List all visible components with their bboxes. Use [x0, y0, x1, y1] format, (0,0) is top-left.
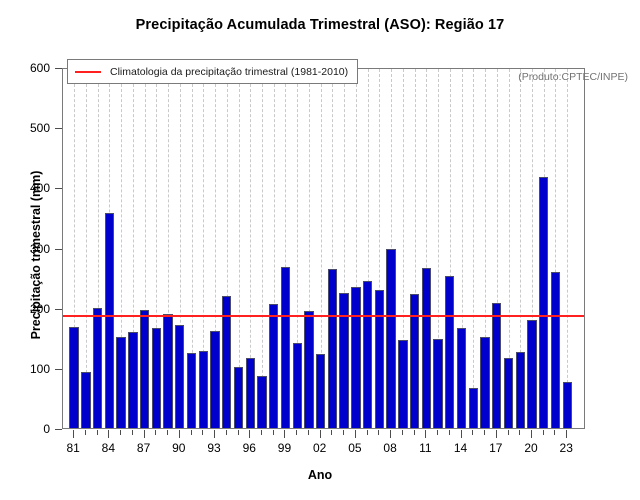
- bar: [152, 328, 161, 428]
- x-tick-mark-major: [390, 430, 391, 438]
- y-tick-mark: [55, 309, 62, 310]
- x-tick-label: 20: [511, 441, 551, 455]
- bar: [105, 213, 114, 428]
- chart-title: Precipitação Acumulada Trimestral (ASO):…: [0, 17, 640, 33]
- x-tick-mark-major: [531, 430, 532, 438]
- bar: [480, 337, 489, 428]
- bar: [386, 249, 395, 428]
- bar: [175, 325, 184, 428]
- bar: [269, 304, 278, 428]
- x-tick-mark-minor: [273, 430, 274, 435]
- bar: [363, 281, 372, 428]
- x-tick-label: 05: [335, 441, 375, 455]
- x-tick-mark-minor: [367, 430, 368, 435]
- x-tick-label: 17: [476, 441, 516, 455]
- x-tick-mark-minor: [120, 430, 121, 435]
- x-tick-mark-minor: [202, 430, 203, 435]
- legend: Climatologia da precipitação trimestral …: [67, 59, 358, 84]
- x-tick-mark-minor: [191, 430, 192, 435]
- bar: [293, 343, 302, 428]
- bar: [398, 340, 407, 428]
- bar: [433, 339, 442, 428]
- y-tick-label: 0: [0, 422, 50, 436]
- y-tick-mark: [55, 128, 62, 129]
- x-tick-mark-minor: [414, 430, 415, 435]
- y-tick-mark: [55, 369, 62, 370]
- bar: [128, 332, 137, 428]
- x-tick-mark-minor: [226, 430, 227, 435]
- x-tick-mark-minor: [85, 430, 86, 435]
- x-tick-label: 23: [546, 441, 586, 455]
- x-tick-mark-major: [461, 430, 462, 438]
- y-tick-mark: [55, 188, 62, 189]
- x-tick-mark-minor: [472, 430, 473, 435]
- y-axis-title: Precipitação trimestral (mm): [29, 130, 43, 380]
- x-tick-mark-major: [425, 430, 426, 438]
- x-tick-mark-minor: [554, 430, 555, 435]
- bar: [69, 327, 78, 428]
- bar: [210, 331, 219, 428]
- bar: [351, 287, 360, 428]
- bar: [375, 290, 384, 428]
- x-tick-mark-minor: [378, 430, 379, 435]
- x-tick-mark-minor: [261, 430, 262, 435]
- bar: [199, 351, 208, 428]
- x-tick-label: 87: [124, 441, 164, 455]
- x-tick-label: 90: [159, 441, 199, 455]
- y-tick-mark: [55, 68, 62, 69]
- x-tick-mark-minor: [331, 430, 332, 435]
- x-axis-title: Ano: [0, 468, 640, 482]
- x-tick-mark-major: [144, 430, 145, 438]
- x-tick-label: 84: [88, 441, 128, 455]
- bar: [234, 367, 243, 428]
- bar: [257, 376, 266, 428]
- x-tick-mark-minor: [543, 430, 544, 435]
- x-tick-mark-minor: [519, 430, 520, 435]
- bar: [281, 267, 290, 428]
- bar: [246, 358, 255, 428]
- bar: [140, 310, 149, 428]
- x-tick-mark-major: [249, 430, 250, 438]
- x-tick-mark-minor: [296, 430, 297, 435]
- y-tick-mark: [55, 429, 62, 430]
- bar: [163, 314, 172, 428]
- x-tick-label: 93: [194, 441, 234, 455]
- x-tick-mark-minor: [132, 430, 133, 435]
- x-tick-mark-minor: [155, 430, 156, 435]
- x-tick-mark-major: [355, 430, 356, 438]
- climatology-reference-line: [63, 315, 584, 317]
- bar: [410, 294, 419, 428]
- x-tick-label: 14: [441, 441, 481, 455]
- x-tick-mark-major: [214, 430, 215, 438]
- gridline-minor: [473, 69, 474, 428]
- bar: [316, 354, 325, 428]
- x-tick-label: 81: [53, 441, 93, 455]
- x-tick-mark-minor: [449, 430, 450, 435]
- bar: [304, 311, 313, 428]
- bar: [527, 320, 536, 428]
- x-tick-label: 02: [300, 441, 340, 455]
- x-tick-label: 99: [264, 441, 304, 455]
- x-tick-mark-minor: [508, 430, 509, 435]
- bar: [516, 352, 525, 428]
- bar: [551, 272, 560, 428]
- x-tick-label: 08: [370, 441, 410, 455]
- bar: [563, 382, 572, 428]
- plot-area: [62, 68, 585, 429]
- legend-label-climatology: Climatologia da precipitação trimestral …: [110, 66, 348, 78]
- bar: [328, 269, 337, 428]
- bar: [422, 268, 431, 428]
- bar: [116, 337, 125, 428]
- x-tick-label: 11: [405, 441, 445, 455]
- x-tick-mark-minor: [167, 430, 168, 435]
- x-tick-mark-major: [284, 430, 285, 438]
- x-tick-mark-major: [496, 430, 497, 438]
- bar: [445, 276, 454, 428]
- bar: [469, 388, 478, 428]
- x-tick-mark-major: [179, 430, 180, 438]
- bar: [187, 353, 196, 428]
- producer-credit: (Produto:CPTEC/INPE): [518, 71, 628, 83]
- x-tick-mark-minor: [343, 430, 344, 435]
- bar: [339, 293, 348, 428]
- x-tick-mark-major: [108, 430, 109, 438]
- x-tick-mark-minor: [437, 430, 438, 435]
- bar: [93, 308, 102, 428]
- x-tick-mark-major: [566, 430, 567, 438]
- chart-figure: Precipitação Acumulada Trimestral (ASO):…: [0, 0, 640, 500]
- gridline-minor: [262, 69, 263, 428]
- x-tick-mark-minor: [308, 430, 309, 435]
- gridline: [567, 69, 568, 428]
- x-tick-label: 96: [229, 441, 269, 455]
- x-tick-mark-minor: [97, 430, 98, 435]
- bar: [81, 372, 90, 428]
- bar: [457, 328, 466, 428]
- bar: [504, 358, 513, 428]
- y-tick-mark: [55, 249, 62, 250]
- x-tick-mark-major: [320, 430, 321, 438]
- x-tick-mark-minor: [402, 430, 403, 435]
- legend-swatch-climatology: [75, 71, 101, 73]
- x-tick-mark-minor: [238, 430, 239, 435]
- bar: [492, 303, 501, 428]
- x-tick-mark-minor: [484, 430, 485, 435]
- y-tick-label: 600: [0, 61, 50, 75]
- bar: [539, 177, 548, 428]
- x-tick-mark-major: [73, 430, 74, 438]
